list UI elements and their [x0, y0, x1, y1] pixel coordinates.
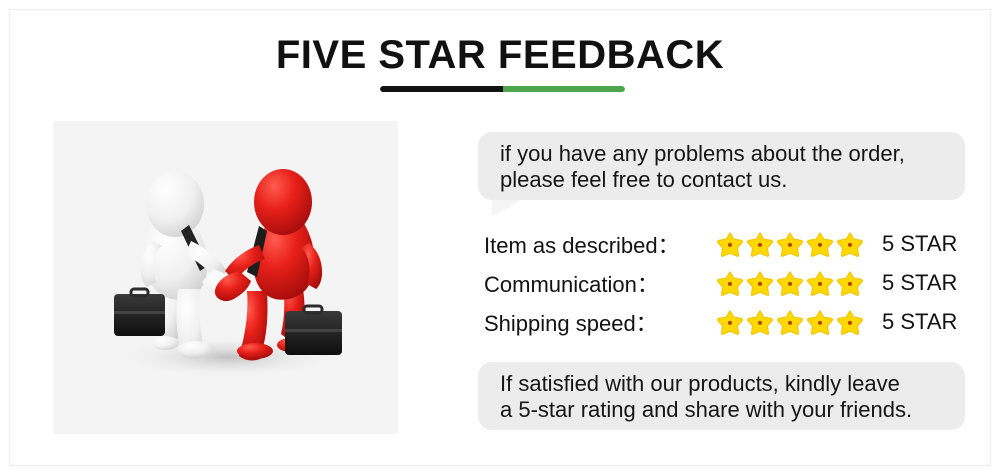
star-icon: [716, 230, 744, 258]
page-title: FIVE STAR FEEDBACK: [0, 33, 1000, 78]
star-icon: [746, 308, 774, 336]
rating-request-bubble: If satisfied with our products, kindly l…: [478, 362, 965, 430]
star-icon: [836, 230, 864, 258]
rating-row: Communication： 5 STAR: [484, 263, 966, 302]
rule-segment-green: [503, 86, 626, 92]
rule-segment-black: [380, 86, 503, 92]
contact-notice-line-2: please feel free to contact us.: [500, 167, 945, 193]
star-rating-group: [716, 269, 876, 297]
rating-value: 5 STAR: [882, 231, 957, 257]
star-rating-group: [716, 308, 876, 336]
rating-request-line-1: If satisfied with our products, kindly l…: [500, 371, 945, 397]
rating-request-line-2: a 5-star rating and share with your frie…: [500, 397, 945, 423]
title-underline-rule: [380, 86, 625, 92]
rating-row: Item as described： 5 STAR: [484, 224, 966, 263]
star-icon: [836, 308, 864, 336]
rating-label: Communication：: [484, 267, 716, 299]
star-icon: [746, 230, 774, 258]
star-icon: [776, 269, 804, 297]
star-icon: [716, 308, 744, 336]
rating-list: Item as described： 5 STAR Communication：…: [484, 224, 966, 341]
rating-value: 5 STAR: [882, 270, 957, 296]
bubble-tail: [492, 197, 526, 217]
contact-notice-bubble: if you have any problems about the order…: [478, 132, 965, 200]
star-icon: [776, 230, 804, 258]
rating-row: Shipping speed： 5 STAR: [484, 302, 966, 341]
rating-value: 5 STAR: [882, 309, 957, 335]
star-icon: [806, 308, 834, 336]
rating-label: Shipping speed：: [484, 306, 716, 338]
star-icon: [776, 308, 804, 336]
five-star-feedback-card: FIVE STAR FEEDBACK: [0, 0, 1000, 475]
handshake-illustration: [53, 121, 398, 434]
rating-label: Item as described：: [484, 228, 716, 260]
contact-notice-line-1: if you have any problems about the order…: [500, 141, 945, 167]
star-icon: [716, 269, 744, 297]
star-rating-group: [716, 230, 876, 258]
star-icon: [806, 230, 834, 258]
star-icon: [806, 269, 834, 297]
star-icon: [836, 269, 864, 297]
star-icon: [746, 269, 774, 297]
briefcase-left: [114, 289, 165, 336]
briefcase-right: [285, 306, 342, 355]
illustration-panel: [53, 121, 398, 434]
